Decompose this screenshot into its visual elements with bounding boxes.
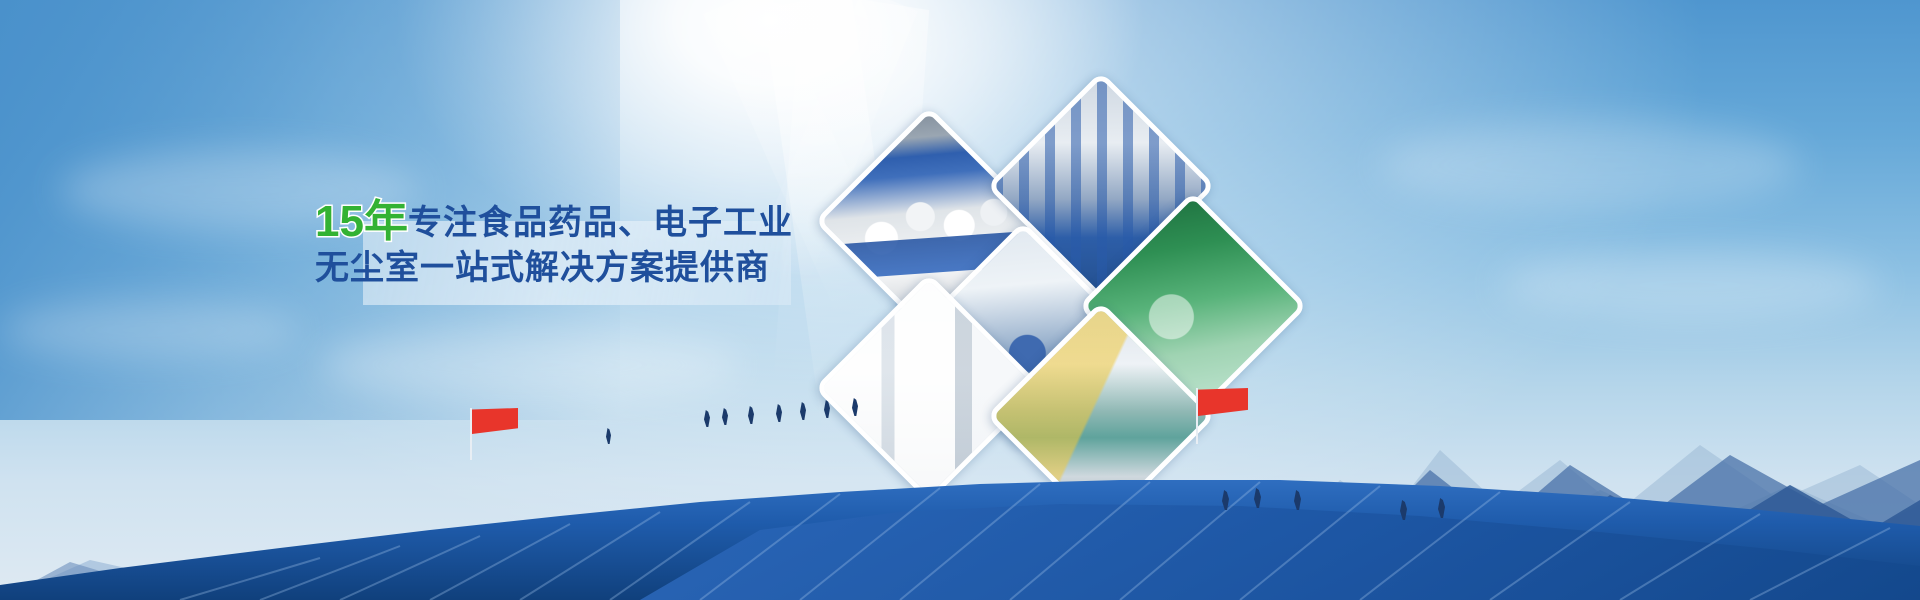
summit-flag-right xyxy=(1196,388,1252,444)
headline-line-1-rest: 专注食品药品、电子工业 xyxy=(408,204,793,242)
cloud xyxy=(1380,120,1800,210)
headline-block: 15年专注食品药品、电子工业 无尘室一站式解决方案提供商 xyxy=(315,196,835,288)
summit-flag-left xyxy=(470,408,522,460)
hero-banner: 15年专注食品药品、电子工业 无尘室一站式解决方案提供商 xyxy=(0,0,1920,600)
snow-ridge xyxy=(0,380,1920,600)
headline-line-2: 无尘室一站式解决方案提供商 xyxy=(315,248,835,288)
headline-line-1: 15年专注食品药品、电子工业 xyxy=(315,196,835,248)
years-badge: 15年 xyxy=(315,197,408,246)
